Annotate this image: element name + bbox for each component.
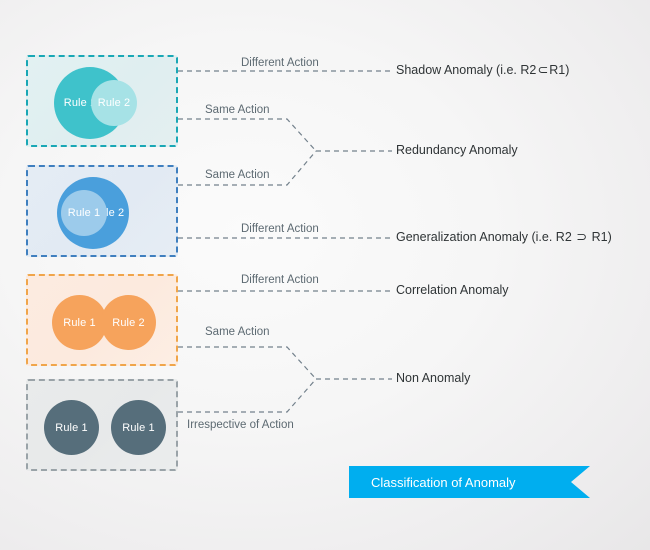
outcome-suffix: R1)	[592, 230, 612, 244]
wire-non-anomaly-from-corrbox	[178, 347, 316, 379]
generalization-inner-circle: Rule 1	[61, 190, 107, 236]
correlation-left-circle: Rule 1	[52, 295, 107, 350]
shadow-inner-circle: Rule 2	[91, 80, 137, 126]
circle-label: Rule 1	[55, 422, 87, 434]
outcome-suffix: R1)	[549, 63, 569, 77]
edge-label-different-action-3: Different Action	[241, 274, 319, 286]
outcome-text: Redundancy Anomaly	[396, 143, 518, 157]
outcome-generalization-anomaly: Generalization Anomaly (i.e. R2 ⊃ R1)	[396, 230, 612, 245]
outcome-redundancy-anomaly: Redundancy Anomaly	[396, 143, 518, 157]
venn-box-shadow: Rule 1 Rule 2	[26, 55, 178, 147]
outcome-shadow-anomaly: Shadow Anomaly (i.e. R2⊂R1)	[396, 63, 569, 78]
edge-label-same-action-3: Same Action	[205, 326, 270, 338]
correlation-right-circle: Rule 2	[101, 295, 156, 350]
venn-box-correlation: Rule 1 Rule 2	[26, 274, 178, 366]
superset-symbol: ⊃	[575, 230, 588, 245]
non-anomaly-left-circle: Rule 1	[44, 400, 99, 455]
edge-label-different-action-1: Different Action	[241, 57, 319, 69]
venn-box-non-anomaly: Rule 1 Rule 1	[26, 379, 178, 471]
edge-label-irrespective-of-action: Irrespective of Action	[187, 419, 294, 431]
edge-label-different-action-2: Different Action	[241, 223, 319, 235]
subset-symbol: ⊂	[536, 63, 549, 78]
circle-label: Rule 1	[122, 422, 154, 434]
outcome-non-anomaly: Non Anomaly	[396, 371, 470, 385]
wire-non-anomaly-from-nonbox	[178, 379, 316, 412]
non-anomaly-right-circle: Rule 1	[111, 400, 166, 455]
classification-banner: Classification of Anomaly	[349, 466, 590, 498]
circle-label: Rule 2	[112, 317, 144, 329]
edge-label-same-action-1: Same Action	[205, 104, 270, 116]
circle-label: Rule 1	[68, 207, 100, 219]
diagram-canvas: Rule 1 Rule 2 Rule 2 Rule 1 Rule 1 Rule …	[0, 0, 650, 550]
wire-redundancy-from-shadowbox	[178, 119, 316, 151]
banner-title: Classification of Anomaly	[371, 475, 516, 490]
venn-box-generalization: Rule 2 Rule 1	[26, 165, 178, 257]
outcome-text: Non Anomaly	[396, 371, 470, 385]
circle-label: Rule 2	[98, 97, 130, 109]
outcome-text: Generalization Anomaly (i.e. R2	[396, 230, 572, 244]
outcome-correlation-anomaly: Correlation Anomaly	[396, 283, 509, 297]
outcome-text: Correlation Anomaly	[396, 283, 509, 297]
outcome-text: Shadow Anomaly (i.e. R2	[396, 63, 536, 77]
circle-label: Rule 1	[63, 317, 95, 329]
edge-label-same-action-2: Same Action	[205, 169, 270, 181]
